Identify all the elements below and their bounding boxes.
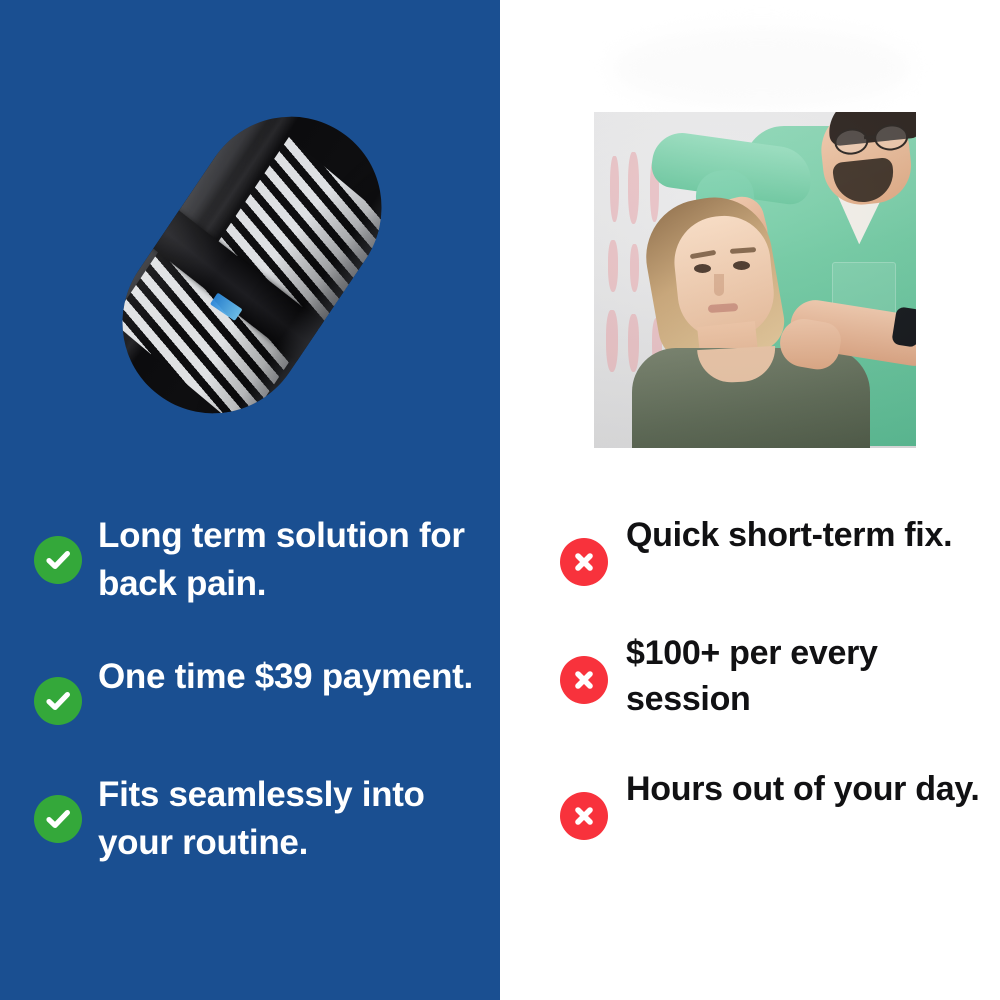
list-item-label: Long term solution for back pain. <box>98 512 482 607</box>
photo-top-glow <box>612 28 912 108</box>
anatomy-poster-mark <box>630 244 639 292</box>
cross-icon <box>560 656 608 704</box>
list-item: $100+ per every session <box>560 630 982 722</box>
list-item: Hours out of your day. <box>560 766 982 840</box>
belt-body <box>87 81 417 448</box>
anatomy-poster-mark <box>628 314 639 372</box>
list-item-label: Fits seamlessly into your routine. <box>98 771 482 866</box>
anatomy-poster-mark <box>610 156 619 222</box>
pros-list: Long term solution for back pain. One ti… <box>0 512 500 912</box>
product-image-stage <box>0 60 500 480</box>
check-icon <box>34 677 82 725</box>
anatomy-poster-mark <box>608 240 618 292</box>
cross-icon <box>560 792 608 840</box>
check-icon <box>34 795 82 843</box>
patient-eye <box>733 261 750 270</box>
cons-list: Quick short-term fix. $100+ per every se… <box>500 512 1000 884</box>
comparison-infographic: Long term solution for back pain. One ti… <box>0 0 1000 1000</box>
cross-icon <box>560 538 608 586</box>
list-item-label: One time $39 payment. <box>98 653 473 701</box>
physiotherapy-session-photo <box>594 112 916 448</box>
back-brace-belt-icon <box>26 40 479 490</box>
list-item: Fits seamlessly into your routine. <box>34 771 482 866</box>
list-item-label: $100+ per every session <box>626 630 982 722</box>
patient-nose <box>714 274 724 296</box>
check-icon <box>34 536 82 584</box>
list-item: Quick short-term fix. <box>560 512 982 586</box>
list-item: One time $39 payment. <box>34 653 482 725</box>
anatomy-poster-mark <box>628 152 639 224</box>
list-item: Long term solution for back pain. <box>34 512 482 607</box>
patient-eye <box>694 264 711 273</box>
list-item-label: Quick short-term fix. <box>626 512 952 558</box>
list-item-label: Hours out of your day. <box>626 766 980 812</box>
anatomy-poster-mark <box>606 310 618 372</box>
